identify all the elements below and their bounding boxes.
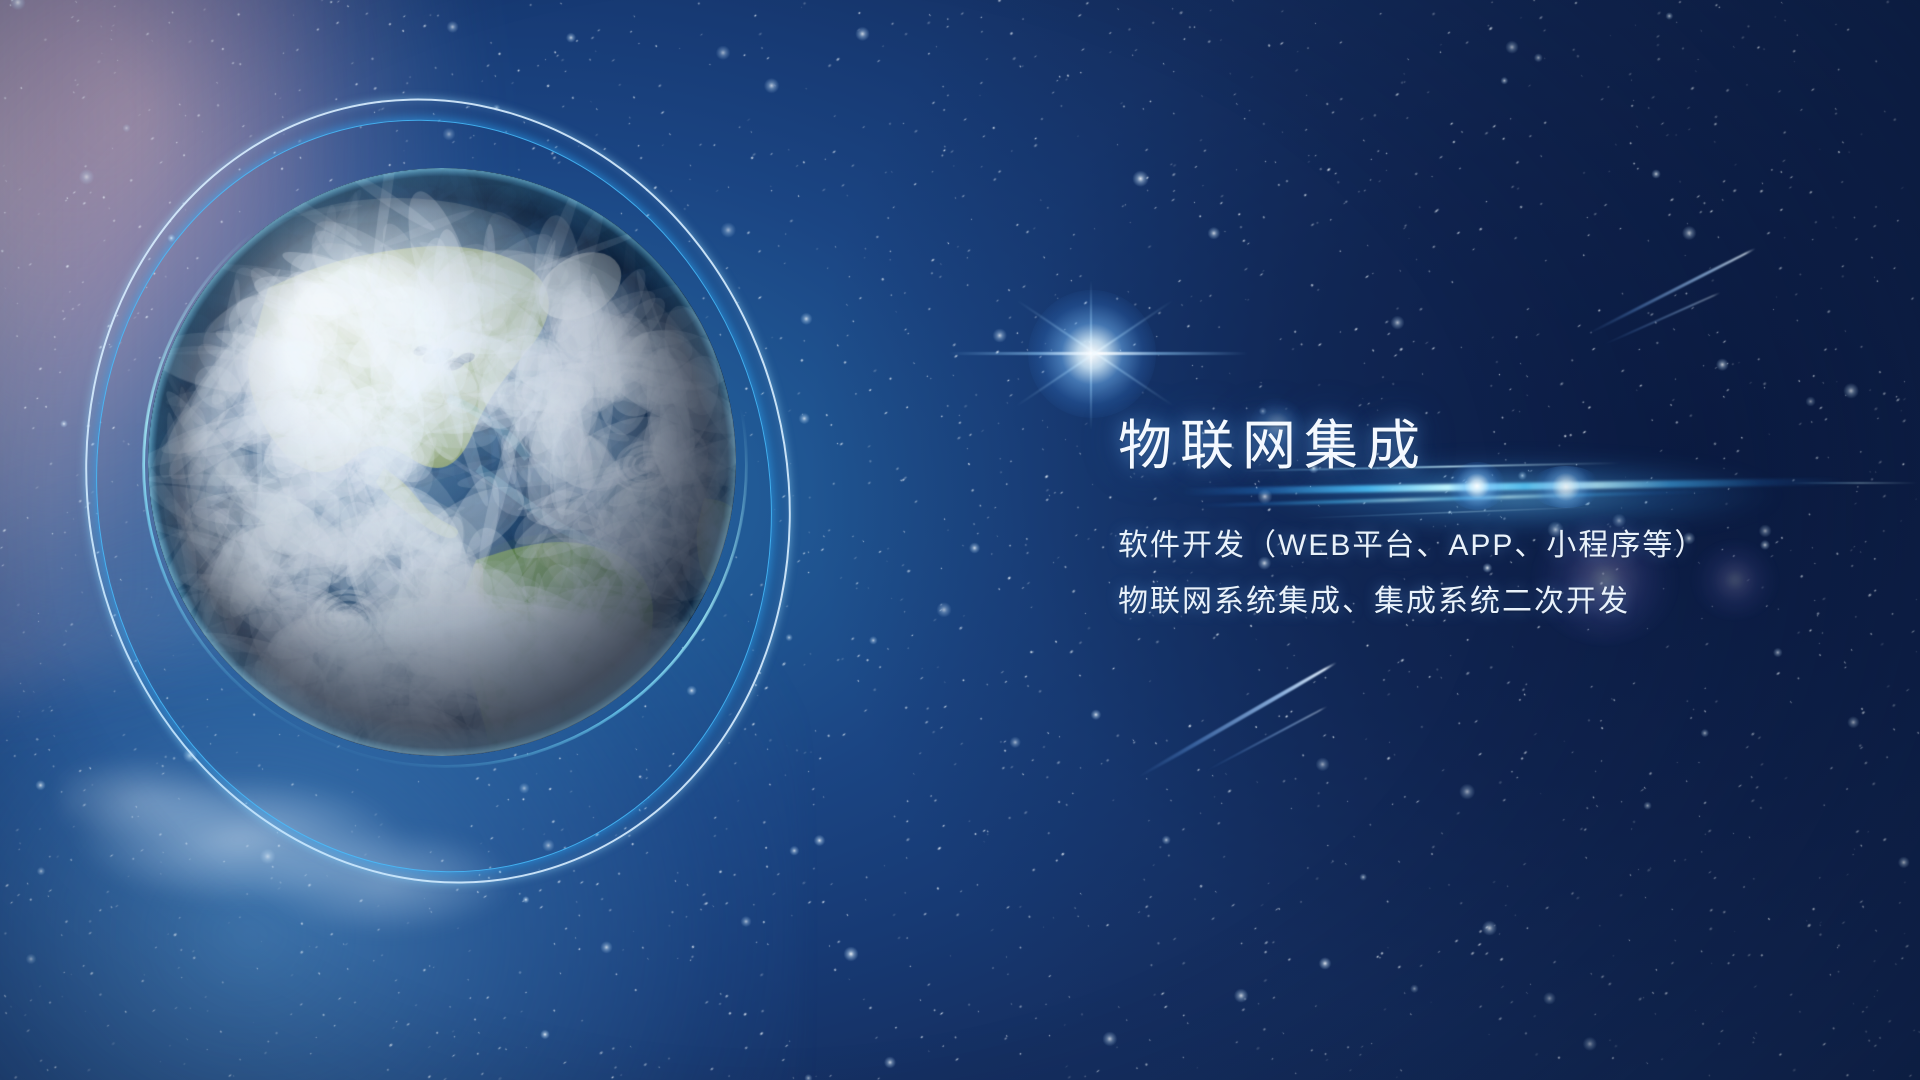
- page-title: 物联网集成: [1118, 418, 1878, 475]
- subtitle-line-1: 软件开发（WEB平台、APP、小程序等）: [1118, 531, 1878, 561]
- banner-copy: 物联网集成 软件开发（WEB平台、APP、小程序等） 物联网系统集成、集成系统二…: [1118, 418, 1878, 617]
- subtitle-line-2: 物联网系统集成、集成系统二次开发: [1118, 587, 1878, 617]
- banner-stage: 物联网集成 软件开发（WEB平台、APP、小程序等） 物联网系统集成、集成系统二…: [0, 0, 1920, 1080]
